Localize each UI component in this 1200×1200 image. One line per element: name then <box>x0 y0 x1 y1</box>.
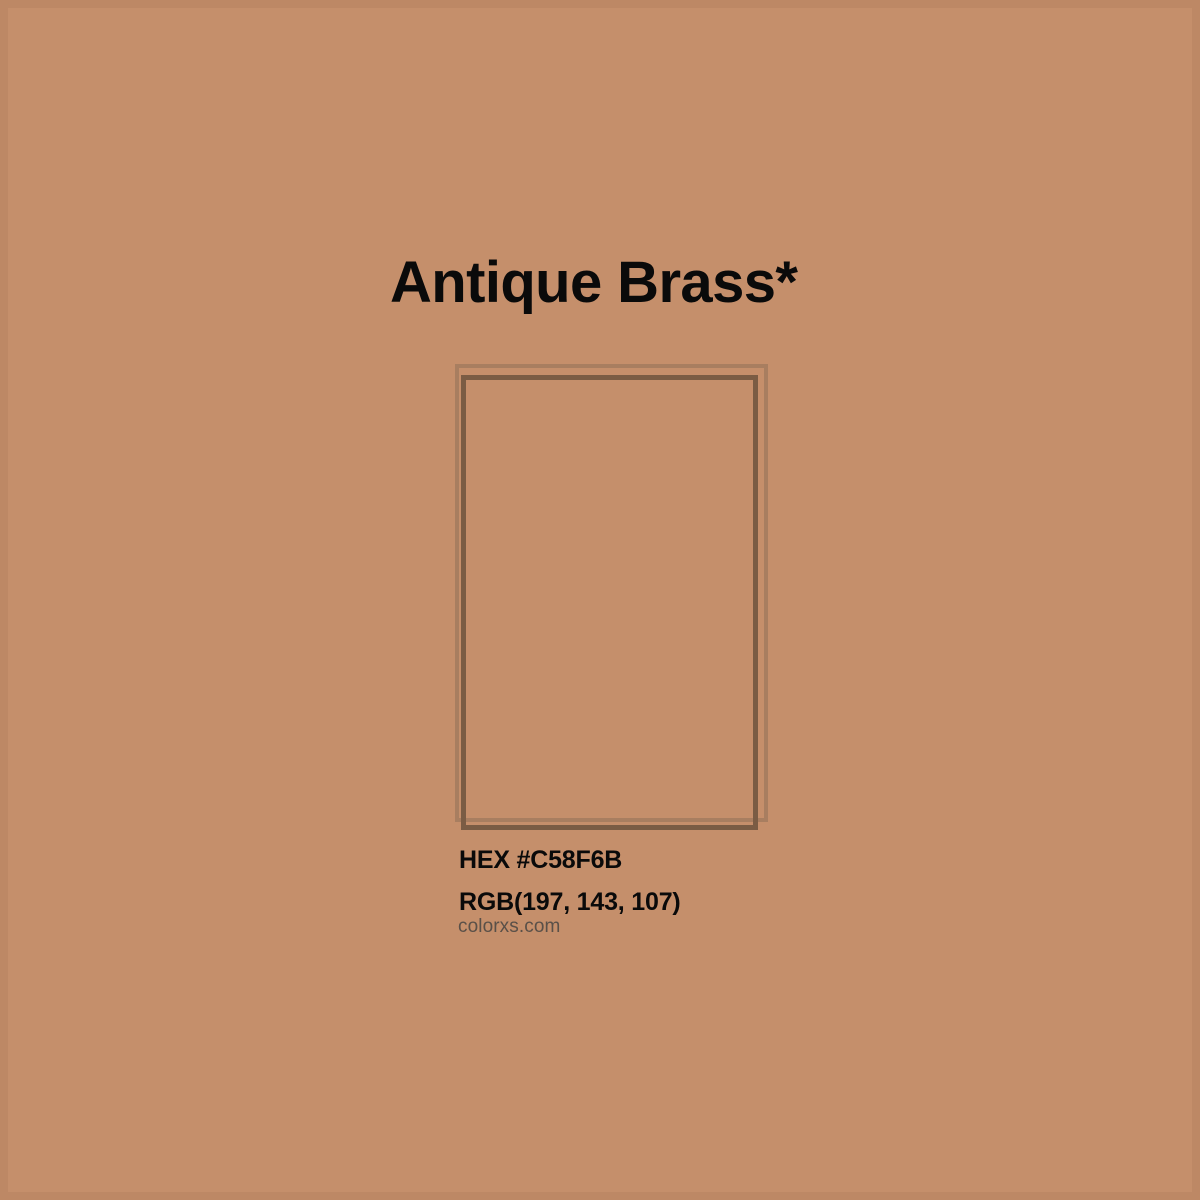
hex-value-label: HEX #C58F6B <box>459 841 979 879</box>
page-title: Antique Brass* <box>390 251 797 315</box>
swatch-frame-dark <box>461 375 758 830</box>
color-value-list: HEX #C58F6B RGB(197, 143, 107) <box>459 841 979 921</box>
color-swatch-card: Antique Brass* HEX #C58F6B RGB(197, 143,… <box>0 0 1200 1200</box>
color-swatch <box>453 362 769 834</box>
source-watermark: colorxs.com <box>458 914 560 940</box>
